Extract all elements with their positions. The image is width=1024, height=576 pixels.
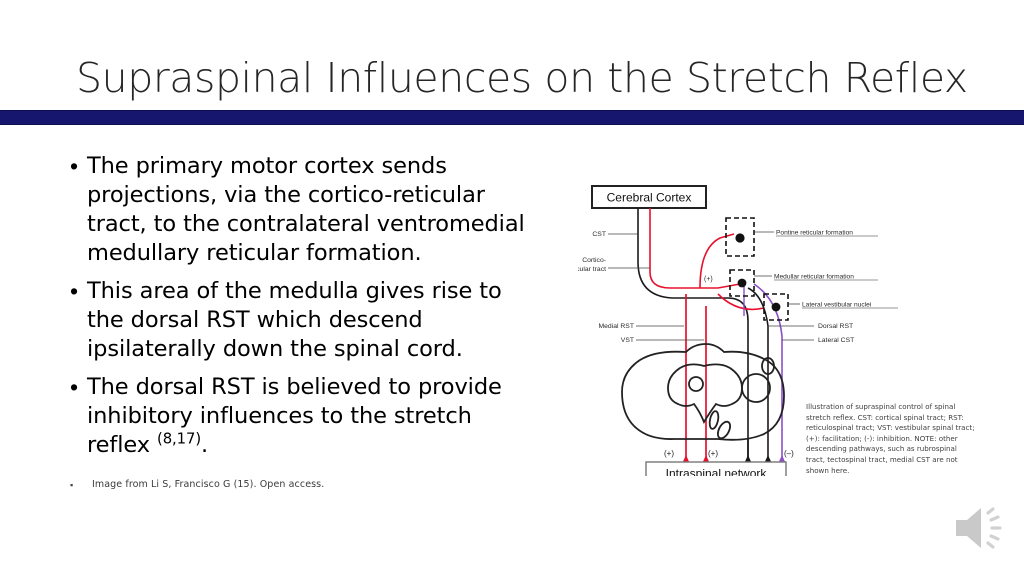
page-title: Supraspinal Influences on the Stretch Re… <box>76 56 956 102</box>
slide-canvas: Supraspinal Influences on the Stretch Re… <box>0 0 1024 576</box>
bullet-glyph: • <box>70 277 87 306</box>
bullet-text-1: The primary motor cortex sends projectio… <box>87 152 540 268</box>
pontine-reticular-formation-node: Pontine reticular formation <box>726 218 878 256</box>
cortico-label-line1: Cortico- <box>582 257 606 264</box>
lateral-vestibular-nuclei-label: Lateral vestibular nuclei <box>802 302 872 309</box>
tract-terminations: (+) (+) (–) <box>664 449 794 462</box>
intraspinal-network-label: Intraspinal network <box>666 467 768 477</box>
citation-superscript: (8,17) <box>157 430 201 448</box>
medullar-reticular-formation-label: Medullar reticular formation <box>774 274 854 281</box>
pontine-reticular-formation-label: Pontine reticular formation <box>776 230 853 237</box>
sign-marker-2: (+) <box>708 449 718 458</box>
cerebral-cortex-label: Cerebral Cortex <box>607 191 692 205</box>
bullet-glyph: • <box>70 152 87 181</box>
sign-marker-1: (+) <box>664 449 674 458</box>
cerebral-cortex-box: Cerebral Cortex <box>592 186 706 208</box>
medullar-branch <box>718 284 740 288</box>
list-item: • The primary motor cortex sends project… <box>70 152 540 268</box>
speaker-icon[interactable] <box>948 500 1010 556</box>
list-item: • The dorsal RST is believed to provide … <box>70 373 540 460</box>
lateral-cst-label-group: Lateral CST <box>782 337 854 344</box>
bullet-list: • The primary motor cortex sends project… <box>70 152 540 469</box>
dorsal-rst-label: Dorsal RST <box>818 323 853 330</box>
bullet-text-3-main: The dorsal RST is believed to provide in… <box>87 374 502 458</box>
cst-label-group: CST <box>592 231 638 238</box>
facilitation-sign-medullar: (+) <box>704 276 713 283</box>
bullet-glyph: • <box>70 373 87 402</box>
vst-label: VST <box>621 337 634 344</box>
bullet-text-3-suffix: . <box>201 432 208 458</box>
cortico-label-line2: reticular tract <box>578 266 606 273</box>
spinal-cord-cross-section <box>622 344 784 440</box>
list-item: • This area of the medulla gives rise to… <box>70 277 540 364</box>
cst-label: CST <box>592 231 606 238</box>
title-divider-rule <box>0 110 1024 125</box>
source-note-bullet-glyph: ▪ <box>70 478 92 492</box>
medullar-reticular-formation-node: Medullar reticular formation (+) <box>704 270 878 296</box>
lateral-cst-label: Lateral CST <box>818 337 854 344</box>
lateral-vestibular-nuclei-node: Lateral vestibular nuclei <box>764 294 898 320</box>
medial-rst-label: Medial RST <box>598 323 634 330</box>
cst-pathway <box>638 208 748 460</box>
bullet-text-2: This area of the medulla gives rise to t… <box>87 277 540 364</box>
medial-rst-label-group: Medial RST <box>598 323 684 330</box>
source-note-text: Image from Li S, Francisco G (15). Open … <box>92 478 324 492</box>
source-note: ▪ Image from Li S, Francisco G (15). Ope… <box>70 478 324 492</box>
speaker-icon-svg <box>948 500 1010 556</box>
sign-marker-3: (–) <box>784 449 794 458</box>
intraspinal-network-box: Intraspinal network <box>646 462 786 476</box>
bullet-text-3: The dorsal RST is believed to provide in… <box>87 373 540 460</box>
figure-caption: Illustration of supraspinal control of s… <box>806 402 978 476</box>
vst-label-group: VST <box>621 337 704 344</box>
